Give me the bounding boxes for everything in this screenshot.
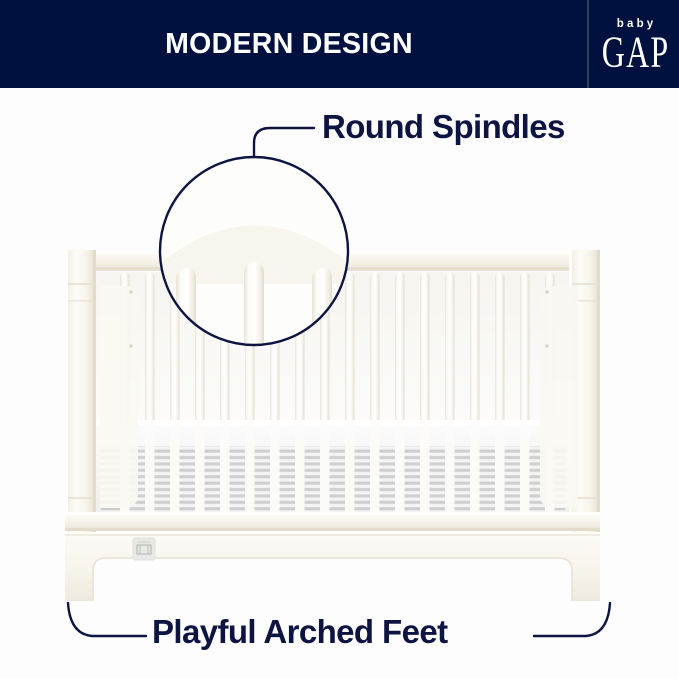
header-divider <box>587 0 589 88</box>
gap-badge-plaque <box>133 538 155 560</box>
callout-label-round-spindles: Round Spindles <box>322 108 565 146</box>
product-feature-graphic: Round Spindles Playful Arched Feet MODER… <box>0 0 679 679</box>
crib-post-left <box>65 250 96 535</box>
header-banner: MODERN DESIGN baby GAP <box>0 0 679 88</box>
page-title: MODERN DESIGN <box>0 0 578 88</box>
callout-label-arched-feet: Playful Arched Feet <box>152 613 447 651</box>
logo-gap-text: GAP <box>601 32 670 73</box>
crib-lower-rail <box>65 512 600 531</box>
baby-gap-logo: baby GAP <box>597 6 673 82</box>
crib-illustration <box>0 0 679 679</box>
